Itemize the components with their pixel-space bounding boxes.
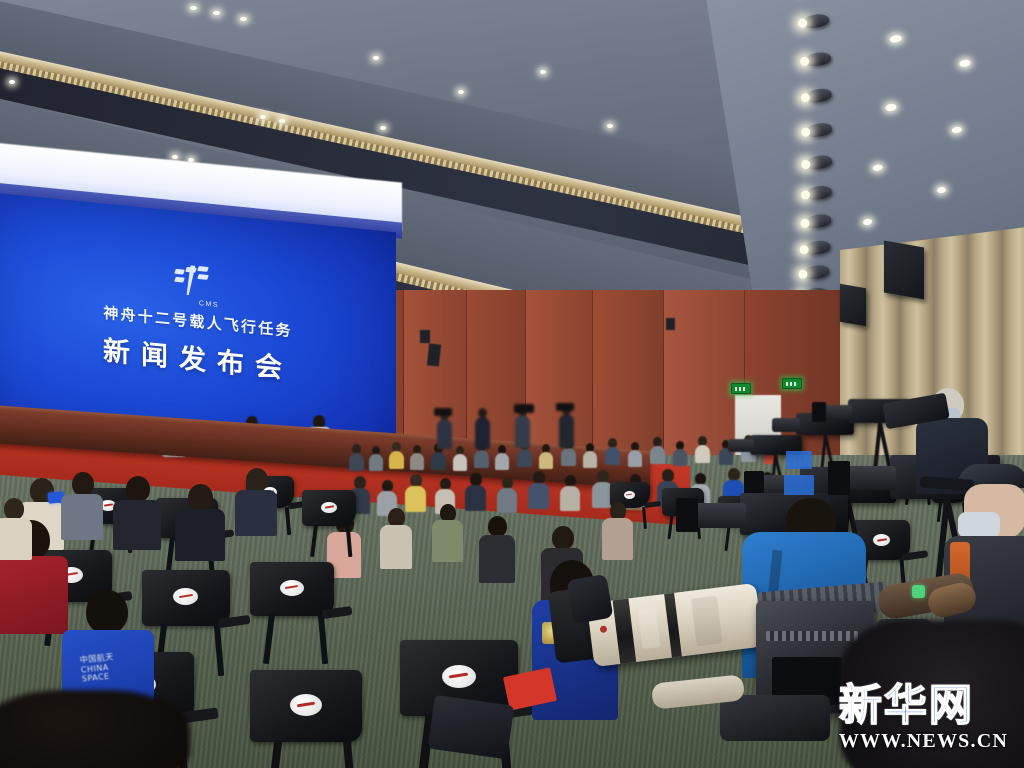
downlight xyxy=(951,126,962,133)
lens-brand-dot xyxy=(600,625,608,633)
downlight xyxy=(863,218,873,225)
hanging-speaker xyxy=(840,284,866,327)
downlight xyxy=(889,34,902,43)
downlight xyxy=(190,6,197,10)
tripod-head xyxy=(720,695,830,741)
wall-speaker xyxy=(420,330,430,343)
cms-logo xyxy=(173,263,233,303)
downlight xyxy=(607,124,613,128)
lens-rear-cap xyxy=(566,574,613,624)
cms-logo-caption: CMS xyxy=(199,300,219,309)
wall-speaker xyxy=(427,343,441,366)
stage-spotlight xyxy=(804,239,832,256)
stage-spotlight xyxy=(805,184,833,201)
press-conference-photo: CMS 神舟十二号载人飞行任务 新闻发布会 xyxy=(0,0,1024,768)
hanging-speaker xyxy=(884,240,924,299)
stage-spotlight xyxy=(805,154,833,171)
downlight xyxy=(540,70,546,74)
record-indicator xyxy=(912,585,925,598)
downlight xyxy=(937,186,947,193)
stage-spotlight xyxy=(805,122,833,139)
downlight xyxy=(260,115,266,119)
watermark-brand: 新华网 xyxy=(839,685,1008,728)
downlight xyxy=(9,80,15,84)
downlight xyxy=(959,59,971,68)
downlight xyxy=(240,17,247,21)
face-mask xyxy=(958,512,1000,538)
downlight xyxy=(380,126,386,130)
stage-spotlight xyxy=(802,264,830,281)
downlight xyxy=(213,11,220,15)
watermark: 新华网 WWW.NEWS.CN xyxy=(839,685,1008,754)
stage-spotlight xyxy=(805,87,833,104)
downlight xyxy=(172,155,178,159)
downlight xyxy=(458,90,464,94)
downlight xyxy=(373,56,379,60)
stage-spotlight xyxy=(802,13,830,30)
downlight xyxy=(885,103,897,112)
telephoto-lens xyxy=(587,583,764,667)
foreground-blur-mass xyxy=(0,690,190,768)
downlight xyxy=(279,119,285,123)
stage-spotlight xyxy=(804,51,832,68)
equipment-case xyxy=(426,695,515,768)
watermark-url: WWW.NEWS.CN xyxy=(839,729,1008,754)
wall-speaker xyxy=(666,318,675,330)
stage-spotlight xyxy=(804,213,832,230)
downlight xyxy=(872,164,883,171)
